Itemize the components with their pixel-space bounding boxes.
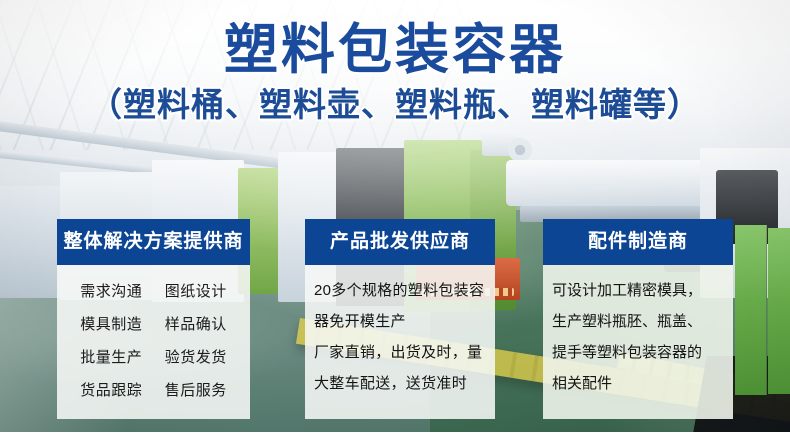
description-line: 20多个规格的塑料包装容 bbox=[314, 275, 486, 306]
description-lines: 20多个规格的塑料包装容 器免开模生产 厂家直销，出货及时，量 大整车配送，送货… bbox=[305, 265, 495, 399]
description-line: 大整车配送，送货准时 bbox=[314, 368, 486, 399]
service-item: 样品确认 bbox=[154, 312, 239, 338]
service-item: 验货发货 bbox=[154, 345, 239, 371]
service-item: 图纸设计 bbox=[154, 279, 239, 305]
banner-subtitle: （塑料桶、塑料壶、塑料瓶、塑料罐等） bbox=[0, 79, 790, 123]
description-line: 器免开模生产 bbox=[314, 306, 486, 337]
service-item-grid: 需求沟通 图纸设计 模具制造 样品确认 批量生产 验货发货 货品跟踪 售后服务 bbox=[57, 279, 250, 404]
card-body: 可设计加工精密模具， 生产塑料瓶胚、瓶盖、 提手等塑料包装容器的 相关配件 bbox=[543, 265, 733, 419]
description-line: 相关配件 bbox=[552, 368, 724, 399]
description-line: 提手等塑料包装容器的 bbox=[552, 337, 724, 368]
card-body: 20多个规格的塑料包装容 器免开模生产 厂家直销，出货及时，量 大整车配送，送货… bbox=[305, 265, 495, 419]
service-item: 批量生产 bbox=[69, 345, 154, 371]
feature-card-wholesale[interactable]: 产品批发供应商 20多个规格的塑料包装容 器免开模生产 厂家直销，出货及时，量 … bbox=[305, 219, 495, 419]
service-item: 货品跟踪 bbox=[69, 378, 154, 404]
bottom-white-strip bbox=[0, 432, 790, 448]
description-line: 厂家直销，出货及时，量 bbox=[314, 337, 486, 368]
feature-cards: 整体解决方案提供商 需求沟通 图纸设计 模具制造 样品确认 批量生产 验货发货 … bbox=[0, 219, 790, 419]
service-item: 模具制造 bbox=[69, 312, 154, 338]
description-line: 生产塑料瓶胚、瓶盖、 bbox=[552, 306, 724, 337]
banner-title: 塑料包装容器 bbox=[0, 0, 790, 79]
card-heading: 产品批发供应商 bbox=[305, 219, 495, 265]
card-heading: 整体解决方案提供商 bbox=[57, 219, 250, 265]
card-body: 需求沟通 图纸设计 模具制造 样品确认 批量生产 验货发货 货品跟踪 售后服务 bbox=[57, 265, 250, 419]
headline-block: 塑料包装容器 （塑料桶、塑料壶、塑料瓶、塑料罐等） bbox=[0, 0, 790, 123]
feature-card-solutions[interactable]: 整体解决方案提供商 需求沟通 图纸设计 模具制造 样品确认 批量生产 验货发货 … bbox=[57, 219, 250, 419]
service-item: 需求沟通 bbox=[69, 279, 154, 305]
card-heading: 配件制造商 bbox=[543, 219, 733, 265]
description-line: 可设计加工精密模具， bbox=[552, 275, 724, 306]
description-lines: 可设计加工精密模具， 生产塑料瓶胚、瓶盖、 提手等塑料包装容器的 相关配件 bbox=[543, 265, 733, 399]
product-banner: 塑料包装容器 （塑料桶、塑料壶、塑料瓶、塑料罐等） 整体解决方案提供商 需求沟通… bbox=[0, 0, 790, 448]
feature-card-accessories[interactable]: 配件制造商 可设计加工精密模具， 生产塑料瓶胚、瓶盖、 提手等塑料包装容器的 相… bbox=[543, 219, 733, 419]
service-item: 售后服务 bbox=[154, 378, 239, 404]
